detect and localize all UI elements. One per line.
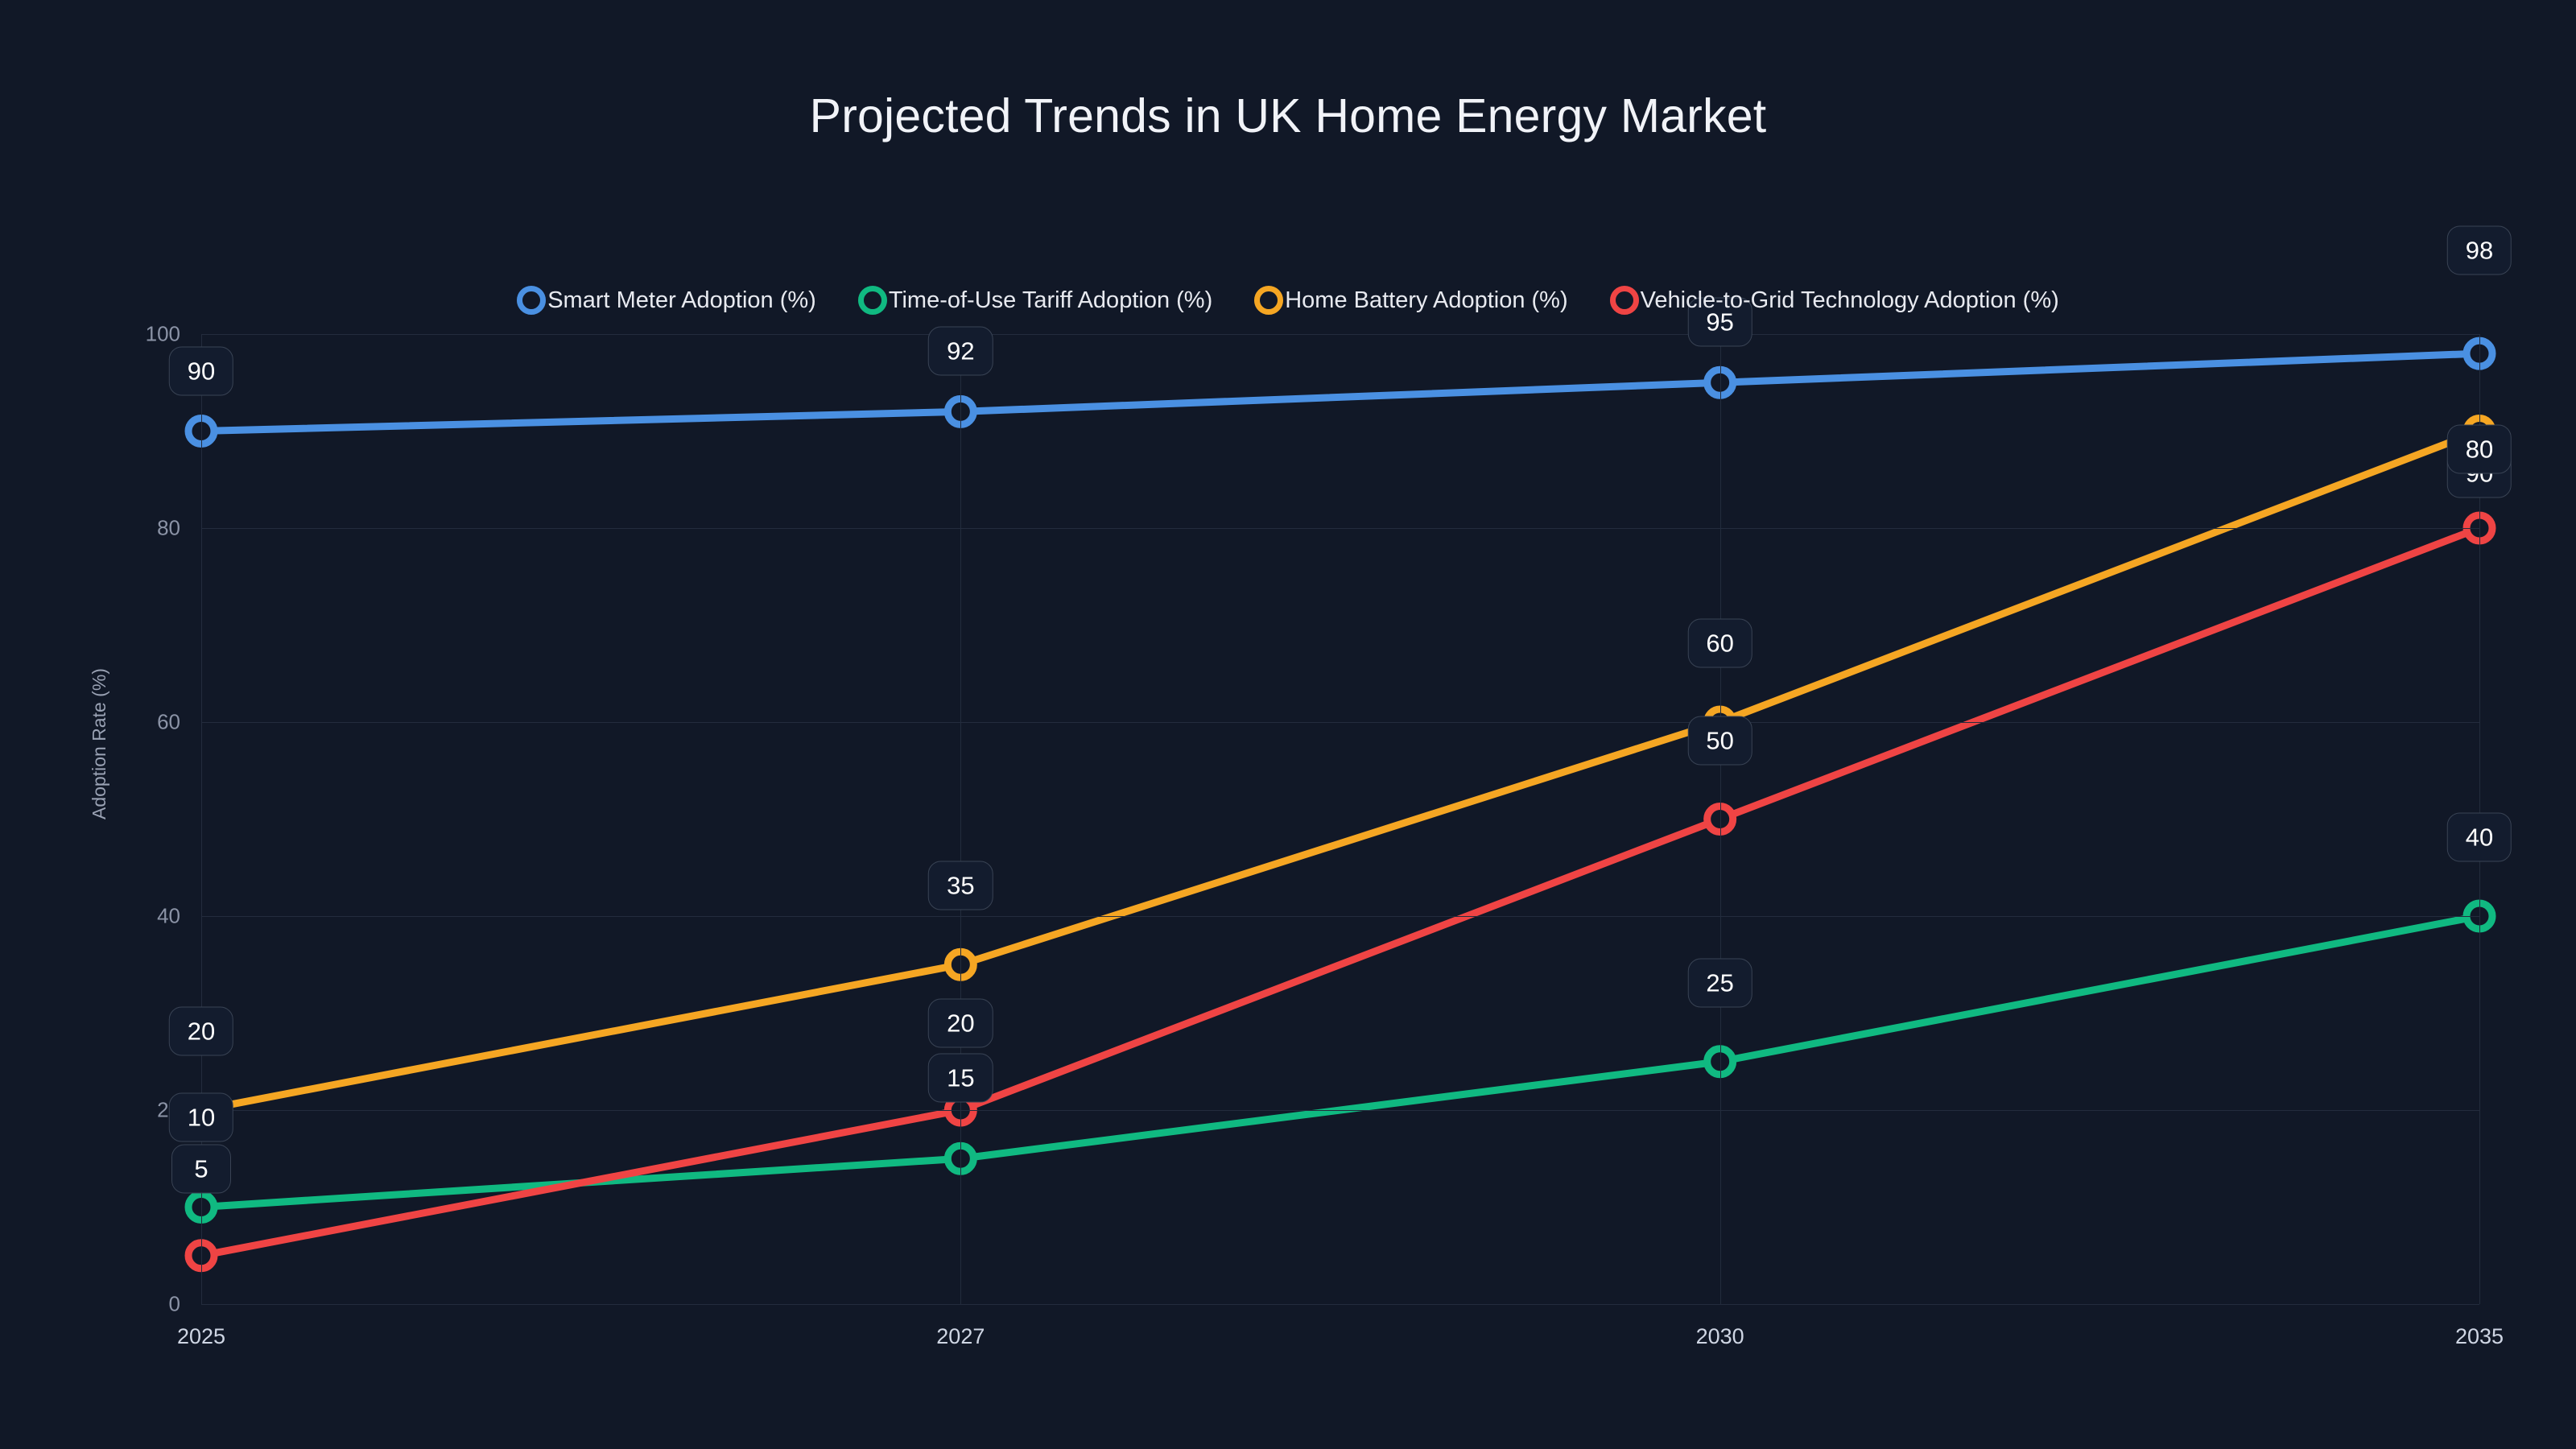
data-point-label: 98 [2447,226,2512,275]
gridline-vertical [960,334,961,1304]
data-point-label: 60 [1687,619,1752,668]
series-line [201,431,2479,1111]
y-axis-tick: 60 [157,710,180,735]
x-axis-tick: 2027 [936,1324,985,1349]
data-point-label: 5 [171,1144,231,1193]
x-axis-tick-labels: 2025202720302035 [201,1324,2479,1373]
plot-area [201,334,2479,1304]
legend-marker-icon [1254,286,1283,315]
data-point-label: 10 [169,1092,233,1141]
chart-title: Projected Trends in UK Home Energy Marke… [0,89,2576,143]
x-axis-tick: 2030 [1696,1324,1744,1349]
x-axis-tick: 2035 [2455,1324,2504,1349]
y-axis-tick: 0 [169,1292,180,1317]
legend-item[interactable]: Time-of-Use Tariff Adoption (%) [858,286,1212,315]
data-point-label: 40 [2447,813,2512,862]
chart-canvas: Projected Trends in UK Home Energy Marke… [0,0,2576,1449]
gridline-horizontal [201,528,2479,529]
gridline-horizontal [201,1304,2479,1305]
data-point-label: 95 [1687,298,1752,347]
gridline-vertical [1720,334,1721,1304]
legend-marker-icon [517,286,546,315]
y-axis-tick: 80 [157,516,180,541]
legend-item-label: Home Battery Adoption (%) [1285,287,1567,314]
data-point-label: 80 [2447,425,2512,474]
legend-item[interactable]: Home Battery Adoption (%) [1254,286,1567,315]
series-line [201,916,2479,1207]
data-point-label: 25 [1687,958,1752,1007]
series-lines [201,334,2479,1304]
gridline-horizontal [201,334,2479,335]
y-axis-title: Adoption Rate (%) [89,668,110,819]
data-point-label: 90 [169,346,233,395]
legend-item[interactable]: Vehicle-to-Grid Technology Adoption (%) [1610,286,2059,315]
y-axis-tick: 40 [157,904,180,929]
data-point-label: 20 [928,999,993,1048]
legend-item-label: Time-of-Use Tariff Adoption (%) [889,287,1212,314]
legend-item-label: Smart Meter Adoption (%) [547,287,816,314]
gridline-horizontal [201,1110,2479,1111]
legend-marker-icon [1610,286,1639,315]
gridline-horizontal [201,722,2479,723]
data-point-label: 20 [169,1007,233,1056]
chart-legend: Smart Meter Adoption (%)Time-of-Use Tari… [0,286,2576,315]
data-point-label: 92 [928,327,993,376]
y-axis-tick: 100 [146,322,180,347]
data-point-label: 50 [1687,716,1752,765]
series-line [201,353,2479,431]
data-point-label: 35 [928,861,993,910]
series-line [201,528,2479,1256]
gridline-horizontal [201,916,2479,917]
x-axis-tick: 2025 [177,1324,225,1349]
legend-item[interactable]: Smart Meter Adoption (%) [517,286,816,315]
legend-marker-icon [858,286,887,315]
data-point-label: 15 [928,1054,993,1103]
